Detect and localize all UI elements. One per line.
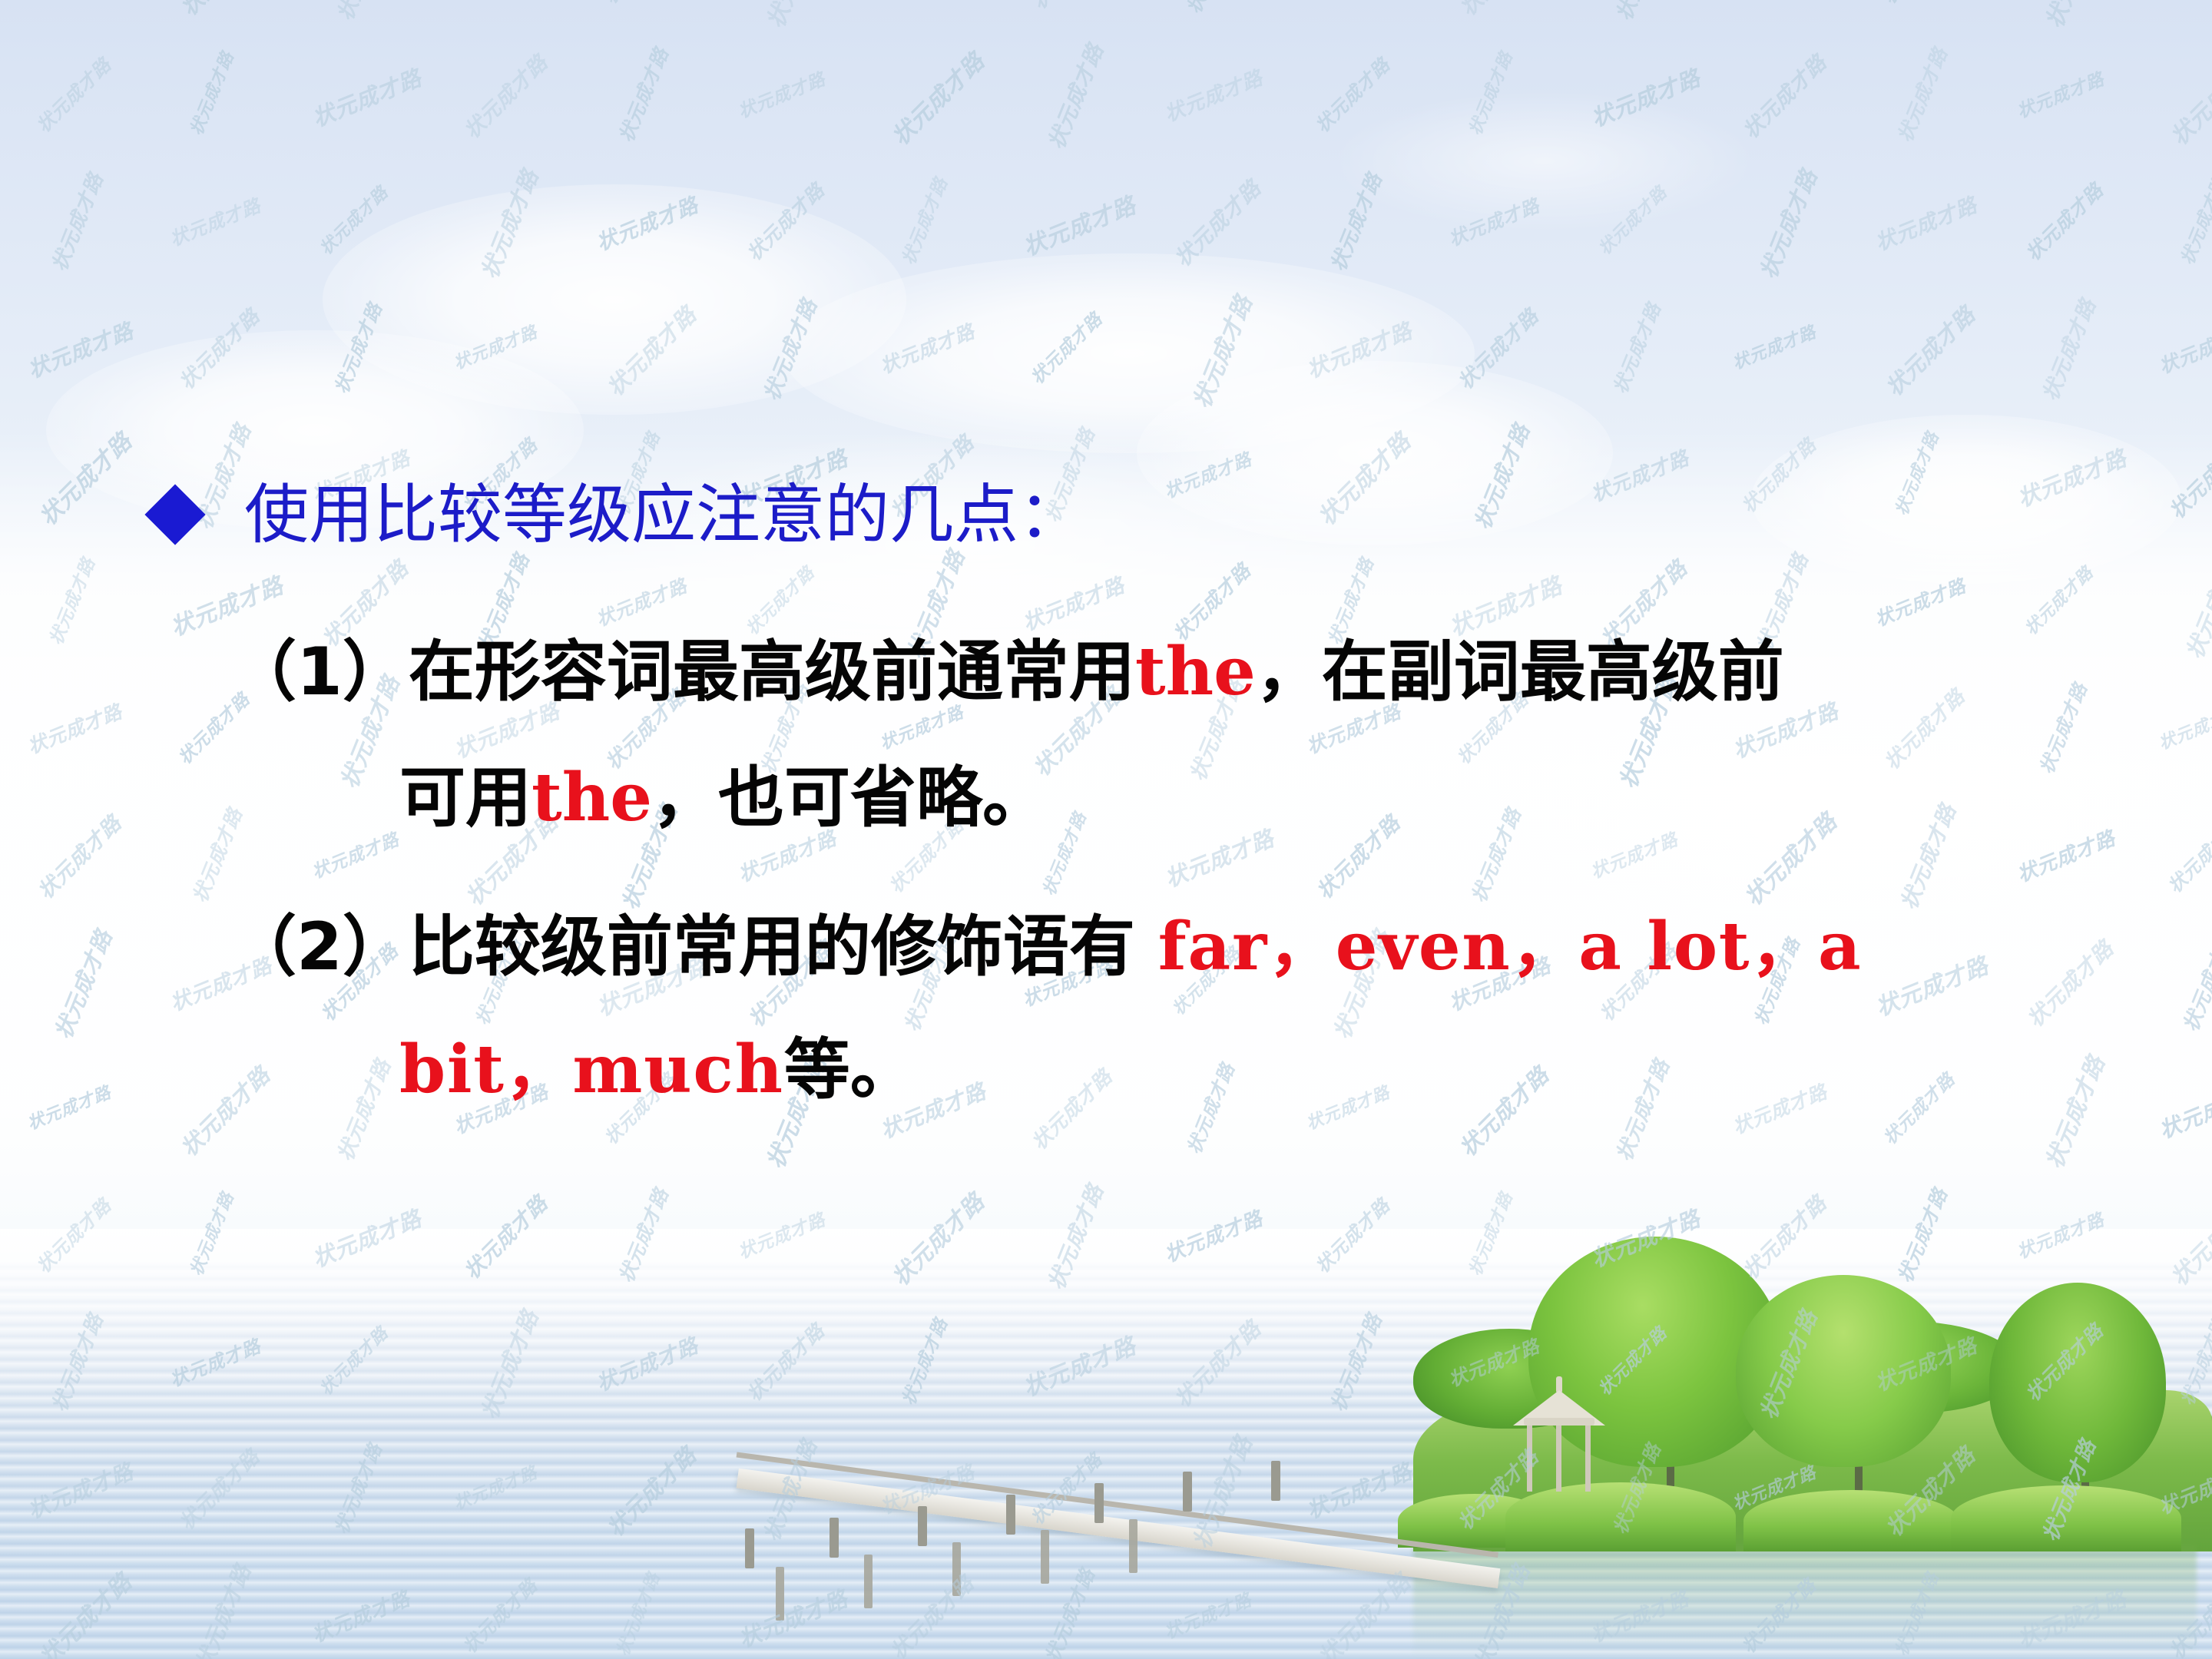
slide-canvas: 状元成才路状元成才路状元成才路状元成才路状元成才路状元成才路状元成才路状元成才路… bbox=[0, 0, 2212, 1659]
item-1-line-1-seg-cn-b: ，在副词最高级前 bbox=[1256, 634, 1784, 710]
item-2-line-1-seg-en: far，even，a lot，a bbox=[1158, 908, 1863, 985]
heading-row: 使用比较等级应注意的几点： bbox=[154, 482, 1083, 547]
item-2-line-2-seg-cn: 等。 bbox=[784, 1031, 916, 1108]
item-1-line-2-seg-en: the bbox=[531, 759, 652, 836]
item-2-line-2: bit，much等。 bbox=[399, 1037, 916, 1103]
slide-content: 使用比较等级应注意的几点： （1）在形容词最高级前通常用the，在副词最高级前 … bbox=[0, 0, 2212, 1659]
item-2-line-1-seg-cn: （2）比较级前常用的修饰语有 bbox=[230, 909, 1158, 985]
item-1-line-2-seg-cn-b: ，也可省略。 bbox=[652, 760, 1048, 836]
item-1-line-1-seg-en: the bbox=[1135, 633, 1256, 710]
item-1-line-2: 可用the，也可省略。 bbox=[399, 765, 1048, 831]
item-1-line-1: （1）在形容词最高级前通常用the，在副词最高级前 bbox=[230, 639, 1784, 705]
item-1-line-1-seg-cn-a: （1）在形容词最高级前通常用 bbox=[230, 634, 1135, 710]
item-1-line-2-seg-cn-a: 可用 bbox=[399, 760, 531, 836]
diamond-bullet-icon bbox=[144, 484, 205, 545]
item-2-line-1: （2）比较级前常用的修饰语有 far，even，a lot，a bbox=[230, 914, 1862, 980]
page-title: 使用比较等级应注意的几点： bbox=[244, 482, 1083, 547]
item-2-line-2-seg-en: bit，much bbox=[399, 1031, 784, 1108]
